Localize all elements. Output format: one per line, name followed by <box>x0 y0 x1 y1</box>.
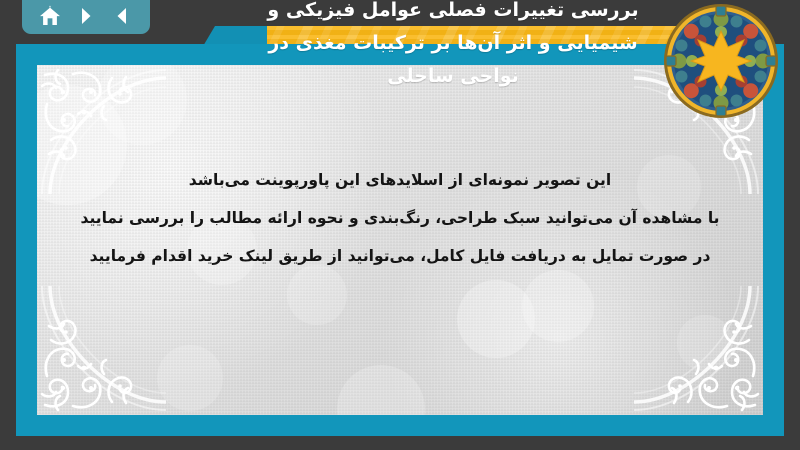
slide-body-text: این تصویر نمونه‌ای از اسلایدهای این پاور… <box>77 161 723 275</box>
previous-slide-button[interactable] <box>109 3 135 29</box>
triangle-right-icon <box>75 5 97 27</box>
home-button[interactable] <box>37 3 63 29</box>
next-slide-button[interactable] <box>73 3 99 29</box>
slide-body-line-1: این تصویر نمونه‌ای از اسلایدهای این پاور… <box>77 161 723 199</box>
corner-ornament-bottom-right <box>634 286 784 436</box>
navigation-toolbar <box>22 0 150 34</box>
bokeh-circle <box>157 345 223 411</box>
slide-body-line-3: در صورت تمایل به دریافت فایل کامل، می‌تو… <box>77 237 723 275</box>
slide-body-line-2: با مشاهده آن می‌توانید سبک طراحی، رنگ‌بن… <box>77 199 723 237</box>
triangle-left-icon <box>111 5 133 27</box>
medallion-ornament <box>662 2 780 120</box>
bokeh-circle <box>522 270 594 342</box>
corner-ornament-bottom-left <box>16 286 166 436</box>
bokeh-circle <box>457 280 535 358</box>
home-icon <box>38 4 62 28</box>
slide-stage: بررسی تغییرات فصلی عوامل فیزیکی و شیمیای… <box>0 0 800 450</box>
